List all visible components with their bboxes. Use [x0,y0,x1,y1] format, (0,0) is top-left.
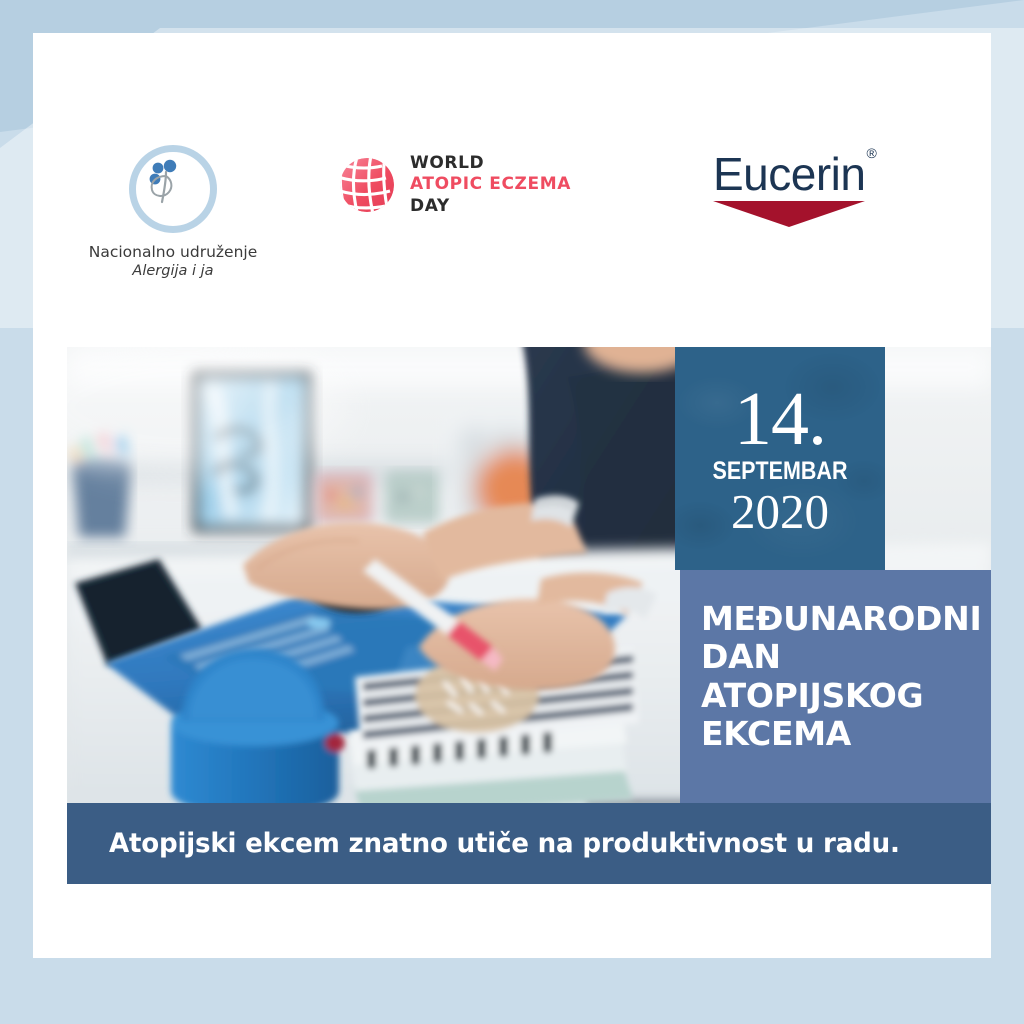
waed-line-3: DAY [410,196,571,217]
waed-wordmark: WORLD ATOPIC ECZEMA DAY [410,153,571,217]
waed-line-1: WORLD [410,153,571,174]
eucerin-wordmark: Eucerin® [713,151,875,197]
poster-card: Nacionalno udruženje Alergija i ja [33,33,991,958]
nau-line-1: Nacionalno udruženje [58,243,288,262]
date-year: 2020 [675,487,885,536]
poster-canvas: Nacionalno udruženje Alergija i ja [0,0,1024,1024]
logo-eucerin: Eucerin® [713,151,893,227]
eucerin-word-text: Eucerin [713,148,865,200]
nau-line-2: Alergija i ja [58,262,288,281]
date-block-content: 14. SEPTEMBAR 2020 [675,347,885,536]
globe-tiles-icon [338,156,396,214]
date-day: 14. [675,385,885,453]
caption-text: Atopijski ekcem znatno utiče na produkti… [109,828,900,859]
caption-bar: Atopijski ekcem znatno utiče na produkti… [67,803,991,884]
logo-nacionalno-udruzenje: Nacionalno udruženje Alergija i ja [58,145,288,281]
allergy-flower-circle-icon [129,145,217,233]
headline-block: MEĐUNARODNI DAN ATOPIJSKOG EKCEMA [680,570,991,804]
logo-world-atopic-eczema-day: WORLD ATOPIC ECZEMA DAY [338,153,571,217]
eucerin-chevron-icon [713,201,865,227]
date-block: 14. SEPTEMBAR 2020 [675,347,885,570]
registered-trademark-icon: ® [866,145,876,161]
waed-line-2: ATOPIC ECZEMA [410,174,571,195]
headline-title: MEĐUNARODNI DAN ATOPIJSKOG EKCEMA [701,600,991,753]
logo-row: Nacionalno udruženje Alergija i ja [33,33,991,333]
date-month: SEPTEMBAR [690,457,871,486]
